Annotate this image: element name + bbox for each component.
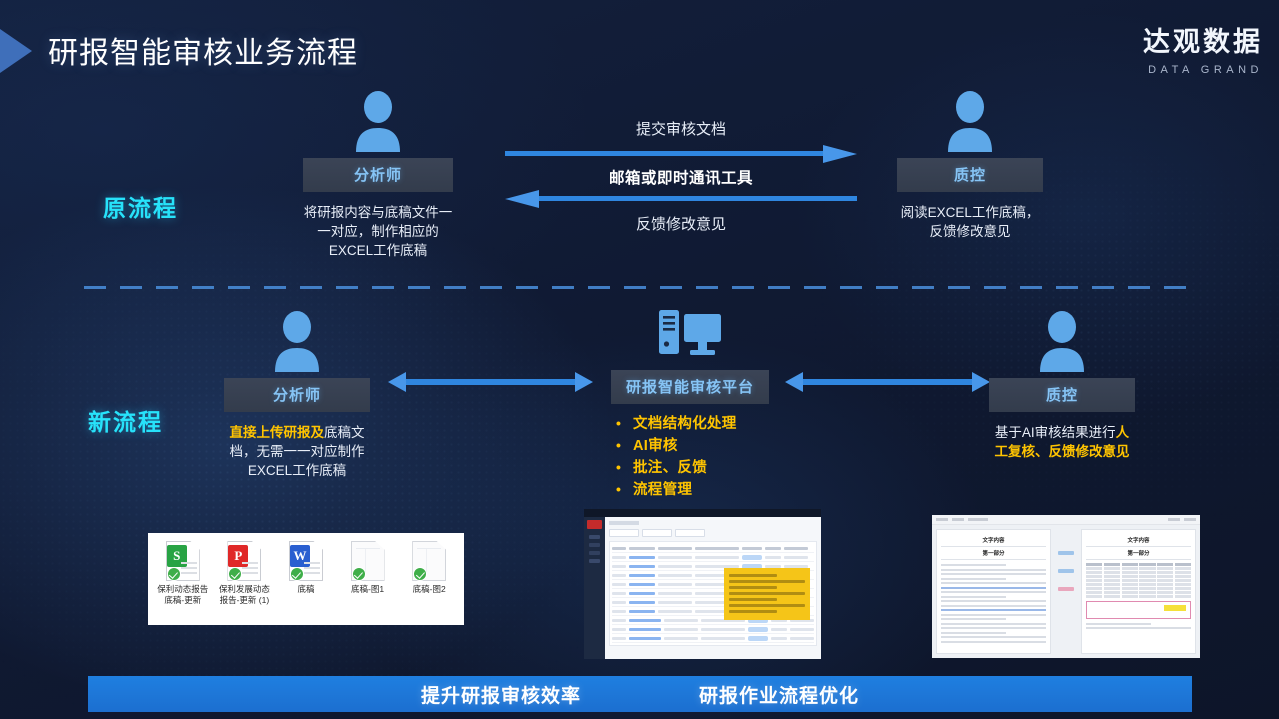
doc-page-section: 第一部分 — [1086, 547, 1191, 560]
new-flow-analyst-node: 分析师 直接上传研报及底稿文档，无需一一对应制作EXCEL工作底稿 — [224, 310, 370, 480]
person-icon — [944, 90, 996, 152]
arrow-left-icon — [505, 190, 857, 208]
file-item[interactable]: P 保利发展动态报告-更新 (1) — [214, 541, 276, 606]
document-compare-screenshot-thumbnail[interactable]: 文字内容 第一部分 文字内容 第一部分 — [932, 515, 1200, 658]
mock-tab — [675, 529, 705, 537]
mock-highlight-box — [1086, 601, 1191, 619]
platform-screenshot-thumbnail[interactable] — [584, 509, 821, 659]
role-chip-analyst: 分析师 — [303, 158, 453, 192]
person-icon — [352, 90, 404, 152]
banner-text-left: 提升研报审核效率 — [421, 681, 581, 708]
person-icon — [1036, 310, 1088, 372]
old-flow-analyst-description: 将研报内容与底稿文件一一对应，制作相应的EXCEL工作底稿 — [303, 203, 453, 260]
computer-icon — [657, 306, 723, 364]
doc-page-title: 文字内容 — [941, 534, 1046, 547]
list-item: 文档结构化处理 — [612, 414, 842, 434]
old-flow-qc-node: 质控 阅读EXCEL工作底稿，反馈修改意见 — [897, 90, 1043, 241]
role-chip-analyst: 分析师 — [224, 378, 370, 412]
mock-table — [609, 541, 817, 646]
new-flow-qc-node: 质控 基于AI审核结果进行人工复核、反馈修改意见 — [989, 310, 1135, 461]
role-chip-qc: 质控 — [989, 378, 1135, 412]
title-arrow-marker-icon — [0, 29, 32, 73]
person-icon — [271, 310, 323, 372]
banner-text-right: 研报作业流程优化 — [699, 681, 859, 708]
new-flow-platform-node: 研报智能审核平台 — [611, 306, 769, 404]
mock-yellow-highlight — [1164, 605, 1186, 611]
mock-annotation-note — [724, 568, 810, 620]
file-list-panel: S 保利动态报告底稿-更新 P 保利发展动态报告-更新 (1) W 底稿 底稿-… — [148, 533, 464, 625]
excel-file-icon: S — [166, 541, 200, 581]
brand-logo: 达观数据 DATA GRAND — [1143, 20, 1263, 76]
file-name: 保利发展动态报告-更新 (1) — [214, 584, 276, 606]
sync-check-icon — [352, 567, 366, 581]
section-label-new-flow: 新流程 — [88, 403, 163, 437]
image-file-icon — [351, 541, 385, 581]
file-item[interactable]: 底稿-图1 — [337, 541, 399, 595]
section-divider — [84, 286, 1194, 289]
mock-data-table — [1086, 563, 1191, 598]
brand-name-en: DATA GRAND — [1143, 64, 1263, 76]
section-label-old-flow: 原流程 — [103, 189, 178, 223]
image-file-icon — [412, 541, 446, 581]
analyst-desc-highlight: 直接上传研报及 — [230, 425, 325, 440]
page-title: 研报智能审核业务流程 — [48, 28, 358, 72]
mock-doc-right-page: 文字内容 第一部分 — [1081, 529, 1196, 654]
old-flow-qc-description: 阅读EXCEL工作底稿，反馈修改意见 — [897, 203, 1043, 241]
mock-doc-link-markers — [1055, 529, 1077, 654]
list-item: AI审核 — [612, 436, 842, 456]
file-name: 底稿-图1 — [337, 584, 399, 595]
file-name: 保利动态报告底稿-更新 — [152, 584, 214, 606]
role-chip-platform: 研报智能审核平台 — [611, 370, 769, 404]
feedback-label: 反馈修改意见 — [505, 213, 857, 234]
mock-logo — [587, 520, 602, 529]
role-chip-qc: 质控 — [897, 158, 1043, 192]
file-item[interactable]: 底稿-图2 — [398, 541, 460, 595]
sync-check-icon — [290, 567, 304, 581]
word-file-icon: W — [289, 541, 323, 581]
old-flow-communication-channel: 提交审核文档 邮箱或即时通讯工具 反馈修改意见 — [505, 118, 857, 234]
mock-toolbar — [932, 515, 1200, 525]
bottom-summary-banner: 提升研报审核效率 研报作业流程优化 — [88, 676, 1192, 712]
arrow-right-icon — [505, 145, 857, 163]
mock-tab — [642, 529, 672, 537]
qc-desc-highlight-2: 反馈修改意见 — [1049, 444, 1130, 459]
list-item: 批注、反馈 — [612, 458, 842, 478]
doc-page-title: 文字内容 — [1086, 534, 1191, 547]
mock-tab — [609, 529, 639, 537]
qc-desc-prefix: 基于AI审核结果进行 — [995, 425, 1116, 440]
pdf-file-icon: P — [227, 541, 261, 581]
platform-feature-list: 文档结构化处理 AI审核 批注、反馈 流程管理 — [612, 414, 842, 502]
new-flow-analyst-description: 直接上传研报及底稿文档，无需一一对应制作EXCEL工作底稿 — [224, 423, 370, 480]
mock-main-panel — [605, 517, 821, 659]
file-name: 底稿-图2 — [398, 584, 460, 595]
file-name: 底稿 — [275, 584, 337, 595]
arrow-double-left-icon — [388, 372, 593, 392]
submit-doc-label: 提交审核文档 — [505, 118, 857, 139]
sync-check-icon — [167, 567, 181, 581]
old-flow-analyst-node: 分析师 将研报内容与底稿文件一一对应，制作相应的EXCEL工作底稿 — [303, 90, 453, 260]
new-flow-qc-description: 基于AI审核结果进行人工复核、反馈修改意见 — [989, 423, 1135, 461]
channel-tool-label: 邮箱或即时通讯工具 — [505, 166, 857, 188]
doc-page-section: 第一部分 — [941, 547, 1046, 560]
file-item[interactable]: W 底稿 — [275, 541, 337, 595]
brand-name-cn: 达观数据 — [1143, 20, 1263, 59]
mock-sidebar — [584, 517, 605, 659]
list-item: 流程管理 — [612, 480, 842, 500]
file-item[interactable]: S 保利动态报告底稿-更新 — [152, 541, 214, 606]
arrow-double-right-icon — [785, 372, 990, 392]
mock-doc-left-page: 文字内容 第一部分 — [936, 529, 1051, 654]
